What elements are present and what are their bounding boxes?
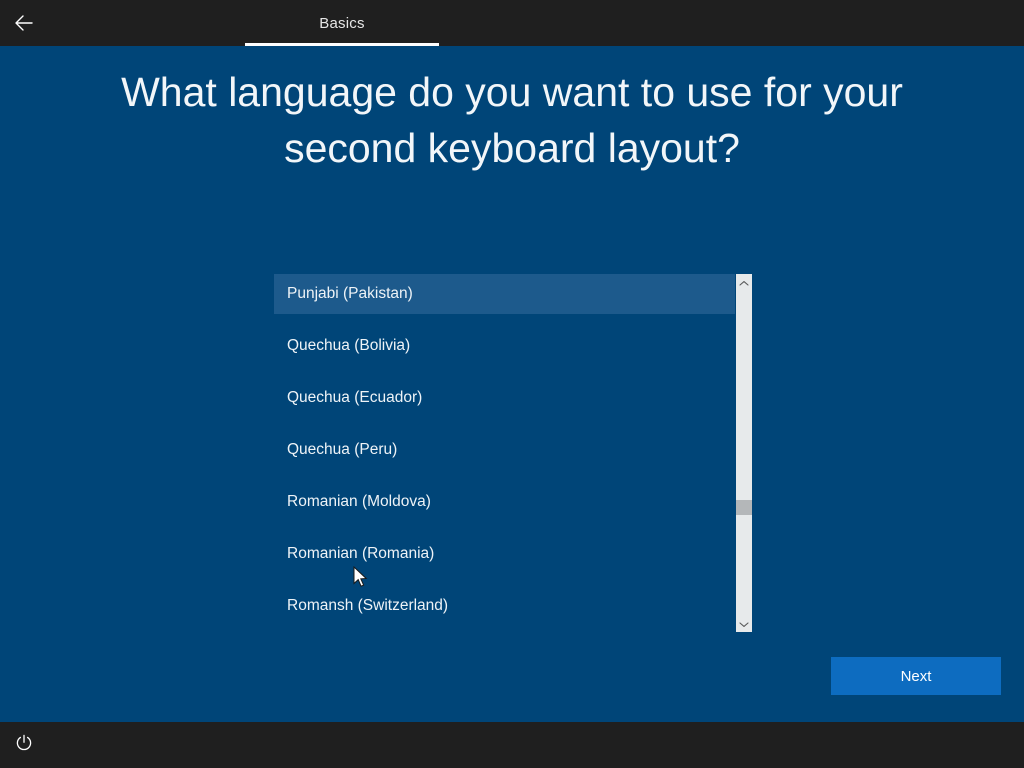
next-button[interactable]: Next: [831, 657, 1001, 695]
list-item[interactable]: Romanian (Moldova): [274, 482, 735, 522]
tab-basics-label: Basics: [319, 15, 364, 32]
power-icon: [15, 734, 33, 757]
power-button[interactable]: [8, 730, 40, 760]
scroll-down-button[interactable]: [736, 615, 752, 632]
tab-basics[interactable]: Basics: [245, 0, 439, 46]
list-item[interactable]: Romanian (Romania): [274, 534, 735, 574]
language-list-viewport: Punjabi (Pakistan)Quechua (Bolivia)Quech…: [274, 274, 735, 632]
page-title: What language do you want to use for you…: [62, 64, 962, 176]
language-list-scrollbar[interactable]: [736, 274, 752, 632]
list-item[interactable]: Quechua (Ecuador): [274, 378, 735, 418]
language-list[interactable]: Punjabi (Pakistan)Quechua (Bolivia)Quech…: [274, 274, 752, 632]
list-item[interactable]: Romansh (Switzerland): [274, 586, 735, 626]
list-item[interactable]: Quechua (Bolivia): [274, 326, 735, 366]
chevron-down-icon: [739, 615, 749, 633]
arrow-left-icon: [12, 11, 36, 35]
tab-active-indicator: [245, 43, 439, 46]
scrollbar-thumb[interactable]: [736, 500, 752, 515]
chevron-up-icon: [739, 274, 749, 292]
title-bar: Basics: [0, 0, 1024, 46]
setup-screen: Basics What language do you want to use …: [0, 0, 1024, 768]
list-item[interactable]: Quechua (Peru): [274, 430, 735, 470]
back-button[interactable]: [0, 0, 48, 46]
scroll-up-button[interactable]: [736, 274, 752, 291]
status-bar: [0, 722, 1024, 768]
list-item[interactable]: Punjabi (Pakistan): [274, 274, 735, 314]
